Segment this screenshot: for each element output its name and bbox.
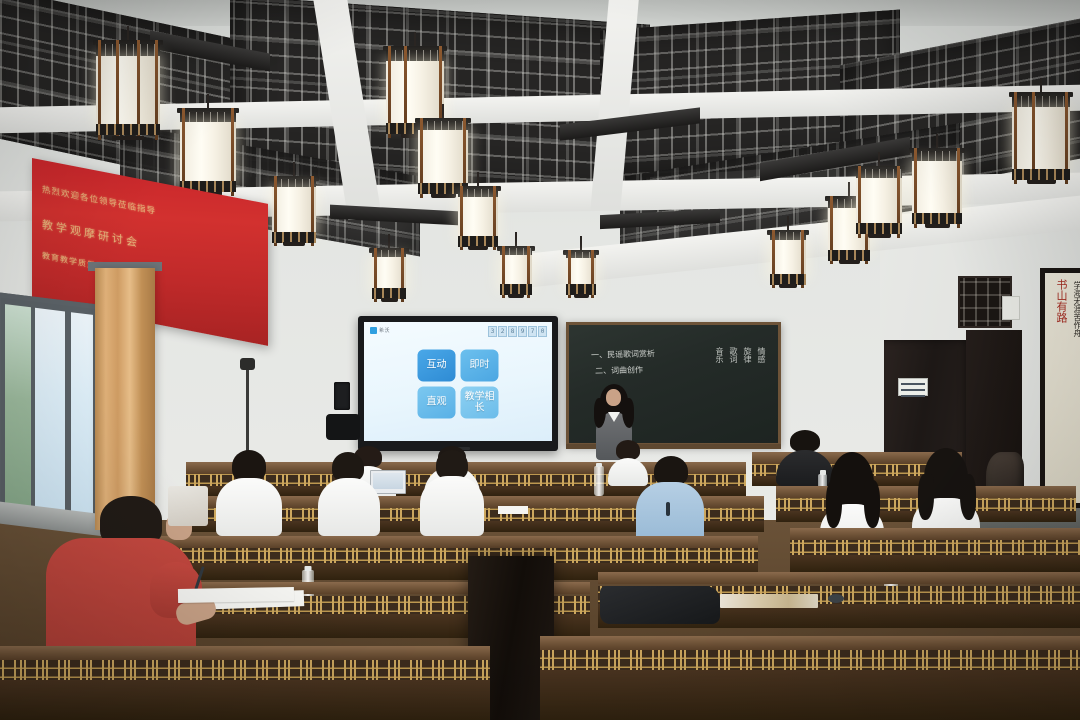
slide-tile[interactable]: 即时 xyxy=(461,349,499,381)
lantern-icon xyxy=(500,246,532,298)
wall-calligraphy-scroll: 书山有路 学海无涯苦作舟 xyxy=(1040,268,1080,508)
water-bottle xyxy=(594,466,604,496)
scroll-primary-text: 书山有路 xyxy=(1053,279,1068,323)
code-digit: 9 xyxy=(518,326,527,337)
code-digit: 0 xyxy=(538,326,547,337)
desk-row xyxy=(790,528,1080,572)
chalk-line-1: 一、民谣歌词赏析 xyxy=(591,348,655,361)
desk-row xyxy=(540,636,1080,720)
lantern-icon xyxy=(1012,92,1070,184)
chalk-line-2: 二、词曲创作 xyxy=(595,364,643,376)
smartboard-screen[interactable]: 希沃 3 2 8 9 7 0 互动 即时 直观 教学相长 xyxy=(364,322,552,441)
wall-plate xyxy=(1002,296,1020,320)
code-digit: 7 xyxy=(528,326,537,337)
app-logo-label: 希沃 xyxy=(379,327,390,334)
lantern-icon xyxy=(912,148,962,228)
chalk-right-2: 歌词 xyxy=(727,347,740,363)
notebook xyxy=(178,587,294,603)
lantern-icon xyxy=(856,166,902,238)
lantern-icon xyxy=(770,230,806,288)
classroom-photo: 热烈欢迎各位领导莅临指导 教学观摩研讨会 教育教学质量提升专题活动 一、民谣歌词… xyxy=(0,0,1080,720)
app-logo: 希沃 xyxy=(370,327,390,334)
code-digit: 3 xyxy=(488,326,497,337)
lantern-icon xyxy=(96,40,160,140)
lantern-icon xyxy=(458,186,498,250)
code-digit: 2 xyxy=(498,326,507,337)
small-object xyxy=(828,594,844,603)
magazine xyxy=(720,594,818,608)
wall-speaker xyxy=(334,382,350,410)
code-digits: 3 2 8 9 7 0 xyxy=(488,326,547,337)
door-notice xyxy=(898,378,928,396)
desk-row xyxy=(0,646,490,720)
app-logo-icon xyxy=(370,327,377,334)
chalk-right-4: 情感 xyxy=(755,347,768,363)
slide-tile[interactable]: 教学相长 xyxy=(461,386,499,418)
chalk-right-3: 旋律 xyxy=(741,347,754,363)
paper-sheet xyxy=(498,506,528,514)
speaker-box xyxy=(326,414,360,440)
lantern-icon xyxy=(566,250,596,298)
code-digit: 8 xyxy=(508,326,517,337)
slide-tile[interactable]: 直观 xyxy=(418,386,456,418)
lantern-icon xyxy=(372,248,406,302)
scroll-secondary-text: 学海无涯苦作舟 xyxy=(1071,281,1080,337)
lantern-icon xyxy=(180,108,236,196)
microphone-icon xyxy=(240,358,255,370)
lantern-icon xyxy=(272,176,316,246)
handbag xyxy=(168,486,208,526)
curtain xyxy=(95,268,155,530)
audience-white-6 xyxy=(420,450,484,536)
slide-tiles: 互动 即时 直观 教学相长 xyxy=(418,349,499,418)
backpack xyxy=(600,586,720,624)
smartboard[interactable]: 希沃 3 2 8 9 7 0 互动 即时 直观 教学相长 xyxy=(358,316,558,451)
audience-white-4 xyxy=(318,452,380,536)
slide-tile[interactable]: 互动 xyxy=(418,349,456,381)
chalk-right-1: 音乐 xyxy=(713,347,726,363)
